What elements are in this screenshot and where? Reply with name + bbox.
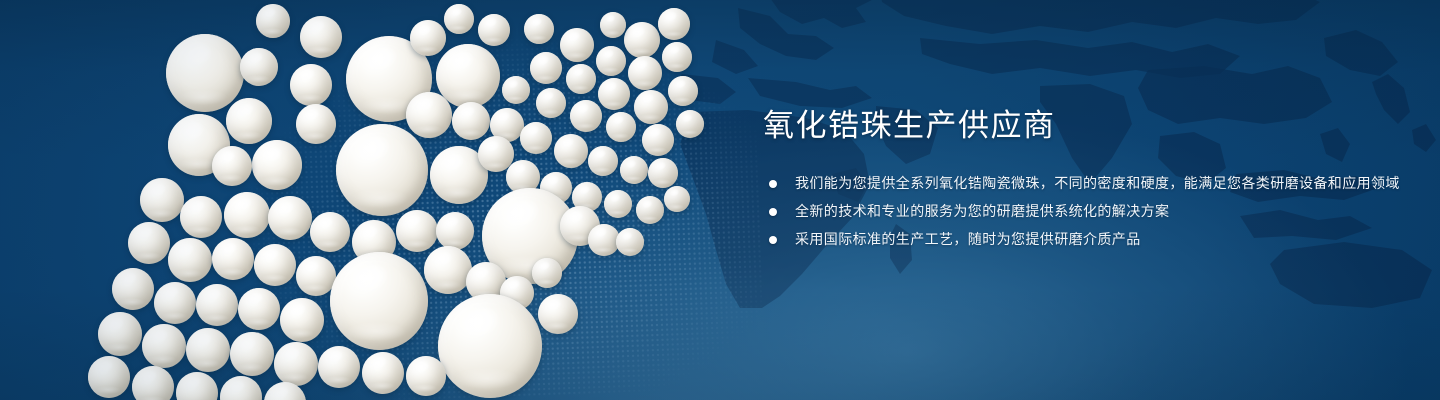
list-item: 我们能为您提供全系列氧化锆陶瓷微珠，不同的密度和硬度，能满足您各类研磨设备和应用… (763, 172, 1403, 195)
banner-copy: 氧化锆珠生产供应商 我们能为您提供全系列氧化锆陶瓷微珠，不同的密度和硬度，能满足… (763, 106, 1403, 256)
bullet-dot-icon (769, 180, 777, 188)
hero-banner: 氧化锆珠生产供应商 我们能为您提供全系列氧化锆陶瓷微珠，不同的密度和硬度，能满足… (0, 0, 1440, 400)
list-item-label: 全新的技术和专业的服务为您的研磨提供系统化的解决方案 (795, 200, 1403, 223)
list-item: 采用国际标准的生产工艺，随时为您提供研磨介质产品 (763, 228, 1403, 251)
list-item-label: 采用国际标准的生产工艺，随时为您提供研磨介质产品 (795, 228, 1403, 251)
feature-list: 我们能为您提供全系列氧化锆陶瓷微珠，不同的密度和硬度，能满足您各类研磨设备和应用… (763, 172, 1403, 251)
bullet-dot-icon (769, 208, 777, 216)
list-item-label: 我们能为您提供全系列氧化锆陶瓷微珠，不同的密度和硬度，能满足您各类研磨设备和应用… (795, 172, 1403, 195)
page-title: 氧化锆珠生产供应商 (763, 106, 1403, 146)
bullet-dot-icon (769, 236, 777, 244)
list-item: 全新的技术和专业的服务为您的研磨提供系统化的解决方案 (763, 200, 1403, 223)
